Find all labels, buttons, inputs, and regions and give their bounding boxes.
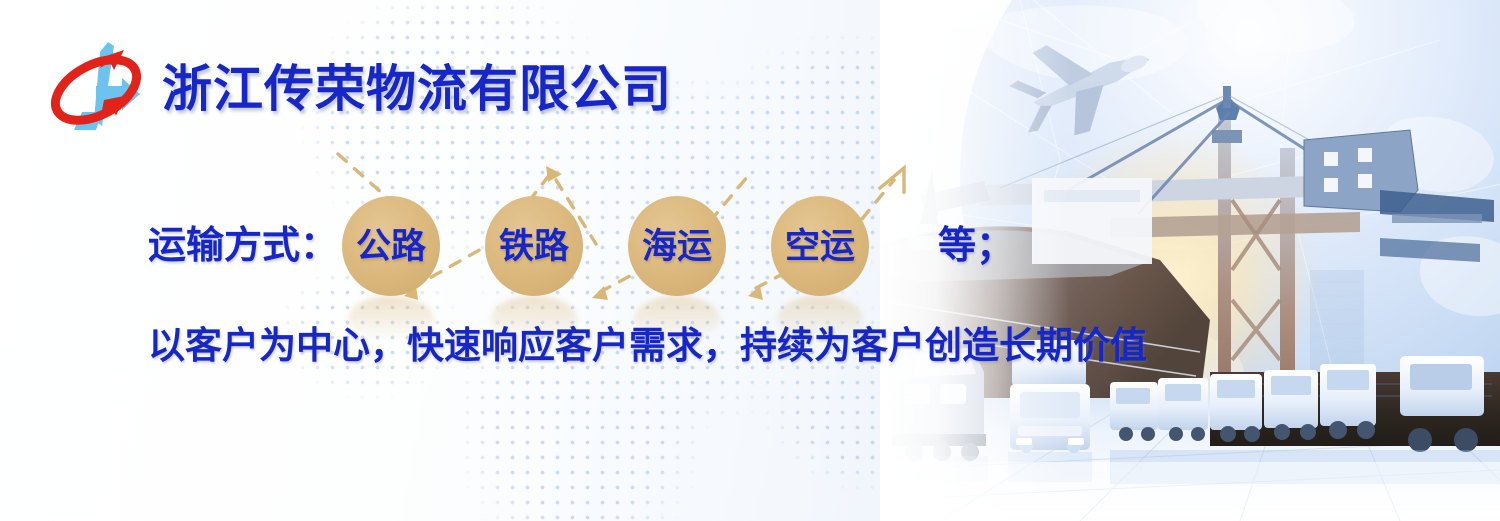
transport-label: 运输方式： xyxy=(148,227,338,265)
etc-text: 等； xyxy=(938,227,1014,265)
transport-modes-row: 运输方式： 公路 铁路 海运 空运 等； xyxy=(148,196,1014,296)
transport-mode-road: 公路 xyxy=(342,196,440,296)
brand-header: 浙江传荣物流有限公司 xyxy=(44,34,672,144)
logistics-banner: 浙江传荣物流有限公司 运输方式： 公路 铁路 海运 空运 等； 以客户为中心，快… xyxy=(0,0,1500,521)
transport-mode-rail: 铁路 xyxy=(485,196,583,296)
company-name: 浙江传荣物流有限公司 xyxy=(162,64,672,114)
transport-mode-sea: 海运 xyxy=(628,196,726,296)
mode-label: 铁路 xyxy=(499,229,569,264)
tagline: 以客户为中心，快速响应客户需求，持续为客户创造长期价值 xyxy=(148,325,1147,368)
transport-mode-air: 空运 xyxy=(771,196,869,296)
mode-label: 海运 xyxy=(642,229,712,264)
company-logo-icon xyxy=(44,34,148,144)
mode-label: 空运 xyxy=(785,229,855,264)
mode-label: 公路 xyxy=(356,229,426,264)
